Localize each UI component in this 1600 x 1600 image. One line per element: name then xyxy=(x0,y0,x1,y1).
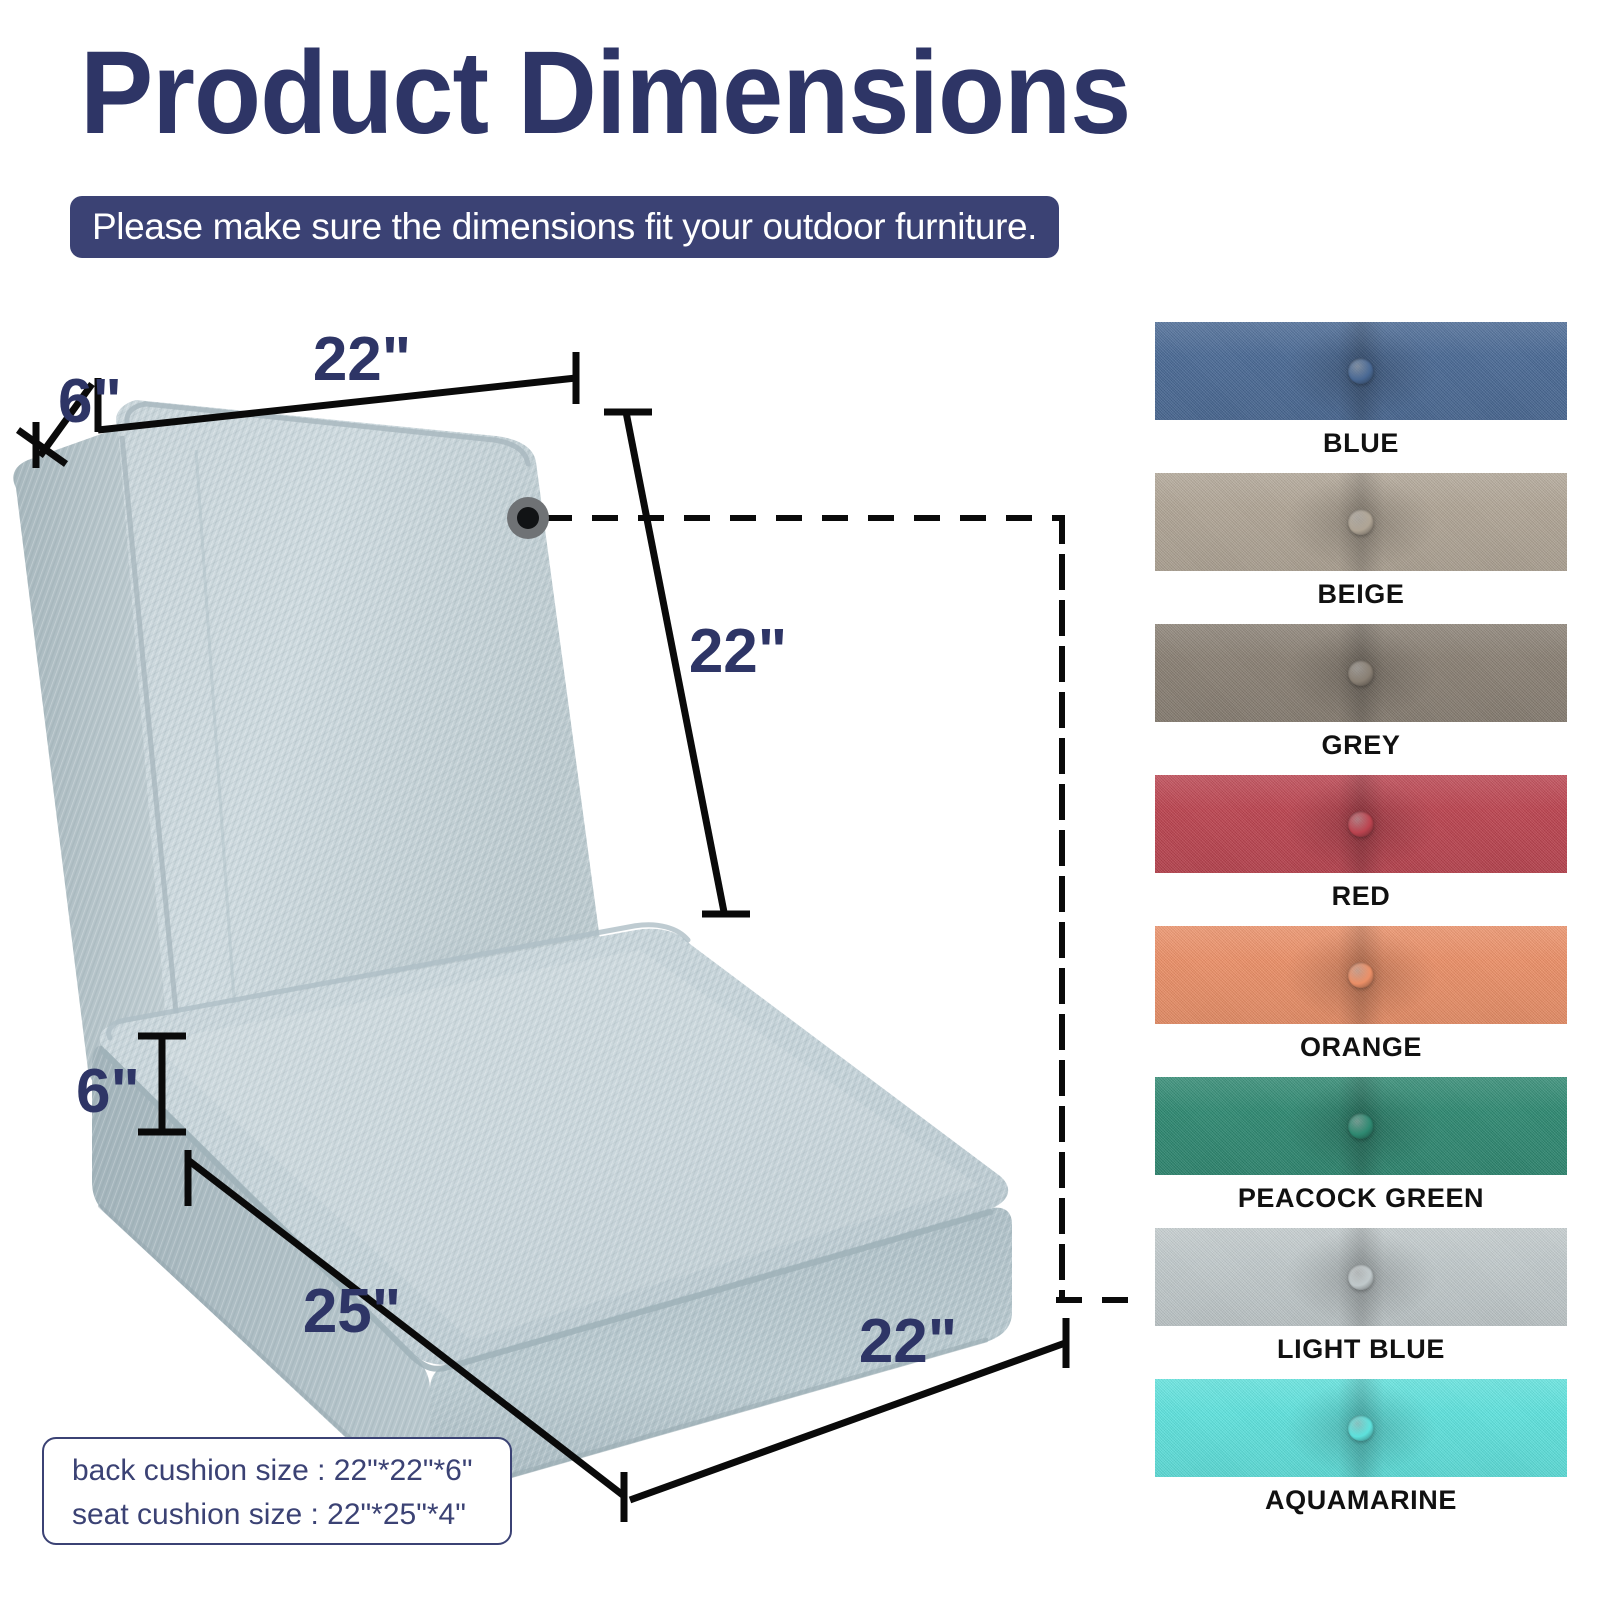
swatch-item[interactable]: RED xyxy=(1155,775,1567,912)
fabric-color-callout-dot xyxy=(507,497,549,539)
swatch-chip-light-blue[interactable] xyxy=(1155,1228,1567,1326)
swatch-chip-grey[interactable] xyxy=(1155,624,1567,722)
product-dimension-diagram: 6" 22" 22" 6" 25" 22" xyxy=(0,300,1130,1600)
swatch-item[interactable]: AQUAMARINE xyxy=(1155,1379,1567,1516)
cushion-size-note: back cushion size : 22"*22"*6" seat cush… xyxy=(42,1437,512,1545)
swatch-label: BLUE xyxy=(1155,428,1567,459)
dim-label-back-height: 22" xyxy=(689,617,787,686)
subtitle-banner: Please make sure the dimensions fit your… xyxy=(70,196,1059,258)
swatch-chip-peacock-green[interactable] xyxy=(1155,1077,1567,1175)
page-title: Product Dimensions xyxy=(80,34,1130,152)
swatch-label: BEIGE xyxy=(1155,579,1567,610)
swatch-label: ORANGE xyxy=(1155,1032,1567,1063)
swatch-item[interactable]: BEIGE xyxy=(1155,473,1567,610)
swatch-label: LIGHT BLUE xyxy=(1155,1334,1567,1365)
back-cushion-size-line: back cushion size : 22"*22"*6" xyxy=(72,1449,510,1493)
swatch-sheen xyxy=(1155,1379,1567,1477)
subtitle-text: Please make sure the dimensions fit your… xyxy=(92,206,1037,248)
color-swatch-list: BLUEBEIGEGREYREDORANGEPEACOCK GREENLIGHT… xyxy=(1155,322,1567,1530)
dim-label-seat-height: 6" xyxy=(76,1057,140,1126)
swatch-item[interactable]: BLUE xyxy=(1155,322,1567,459)
swatch-label: AQUAMARINE xyxy=(1155,1485,1567,1516)
swatch-sheen xyxy=(1155,473,1567,571)
swatch-sheen xyxy=(1155,926,1567,1024)
swatch-sheen xyxy=(1155,624,1567,722)
swatch-item[interactable]: LIGHT BLUE xyxy=(1155,1228,1567,1365)
swatch-label: PEACOCK GREEN xyxy=(1155,1183,1567,1214)
swatch-sheen xyxy=(1155,1228,1567,1326)
swatch-chip-orange[interactable] xyxy=(1155,926,1567,1024)
swatch-label: RED xyxy=(1155,881,1567,912)
swatch-chip-aquamarine[interactable] xyxy=(1155,1379,1567,1477)
swatch-item[interactable]: PEACOCK GREEN xyxy=(1155,1077,1567,1214)
swatch-sheen xyxy=(1155,322,1567,420)
swatch-sheen xyxy=(1155,1077,1567,1175)
swatch-label: GREY xyxy=(1155,730,1567,761)
swatch-item[interactable]: ORANGE xyxy=(1155,926,1567,1063)
dim-label-seat-width: 22" xyxy=(859,1307,957,1376)
dim-label-seat-depth: 25" xyxy=(303,1277,401,1346)
seat-cushion-size-line: seat cushion size : 22"*25"*4" xyxy=(72,1493,510,1537)
swatch-chip-beige[interactable] xyxy=(1155,473,1567,571)
dim-label-back-depth: 6" xyxy=(58,367,122,436)
swatch-item[interactable]: GREY xyxy=(1155,624,1567,761)
swatch-chip-red[interactable] xyxy=(1155,775,1567,873)
dim-label-back-width: 22" xyxy=(313,325,411,394)
swatch-sheen xyxy=(1155,775,1567,873)
swatch-chip-blue[interactable] xyxy=(1155,322,1567,420)
